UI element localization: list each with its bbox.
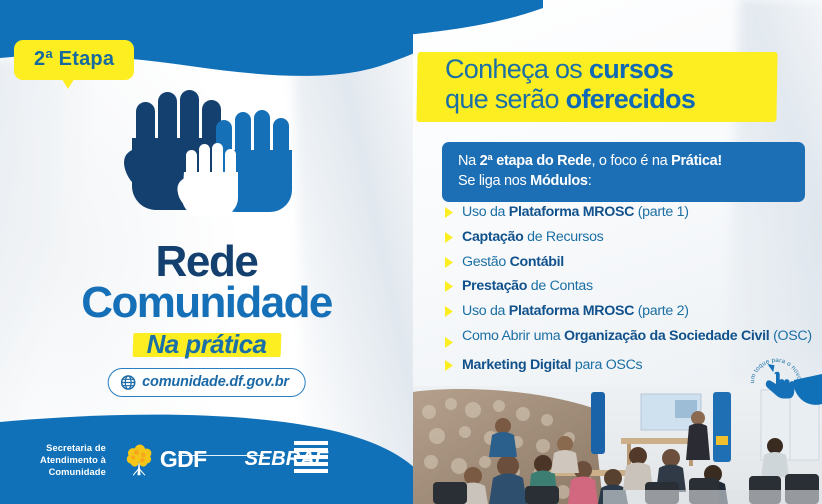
course-bold: Organização da Sociedade Civil — [564, 328, 769, 344]
website-pill[interactable]: comunidade.df.gov.br — [107, 368, 306, 397]
hands-logo-icon — [108, 78, 308, 248]
brand-logotype: Rede Comunidade Na prática — [0, 240, 413, 360]
footer-logos: Secretaria de Atendimento à Comunidade — [40, 442, 328, 478]
course-pre: Gestão — [462, 254, 510, 270]
classroom-photo — [413, 386, 822, 504]
secretaria-line-3: Comunidade — [40, 466, 106, 478]
course-post: (OSC) — [769, 328, 811, 344]
globe-icon — [120, 375, 135, 390]
info-line-2: Se liga nos Módulos: — [458, 172, 791, 192]
course-bold: Plataforma MROSC — [509, 204, 634, 220]
promotional-banner: 2ª Etapa — [0, 0, 822, 504]
chevron-right-icon — [444, 256, 455, 269]
course-pre: Como Abrir uma — [462, 328, 564, 344]
course-post: de Recursos — [523, 229, 603, 245]
chevron-right-icon — [444, 336, 455, 349]
info-1b: 2ª etapa do Rede — [480, 153, 592, 169]
info-1c: , o foco é na — [591, 153, 671, 169]
course-post: (parte 1) — [634, 204, 689, 220]
course-item[interactable]: Gestão Contábil — [444, 254, 814, 271]
chevron-right-icon — [444, 206, 455, 219]
gdf-tree-icon — [122, 443, 156, 477]
course-item[interactable]: Uso da Plataforma MROSC (parte 1) — [444, 204, 814, 221]
info-2b: Módulos — [530, 173, 588, 189]
course-bold: Marketing Digital — [462, 357, 571, 373]
course-item[interactable]: Como Abrir uma Organização da Sociedade … — [444, 328, 814, 349]
tagline-text: Na prática — [141, 329, 273, 359]
info-1d: Prática! — [671, 153, 722, 169]
course-bold: Prestação — [462, 278, 527, 294]
course-item[interactable]: Uso da Plataforma MROSC (parte 2) — [444, 303, 814, 320]
stage-badge: 2ª Etapa — [14, 40, 134, 80]
right-panel: Conheça os cursos que serão oferecidos N… — [413, 0, 822, 504]
course-item[interactable]: Captação de Recursos — [444, 229, 814, 246]
info-1a: Na — [458, 153, 480, 169]
info-line-1: Na 2ª etapa do Rede, o foco é na Prática… — [458, 152, 791, 172]
headline-line-2: que serão oferecidos — [445, 84, 695, 114]
left-panel: 2ª Etapa — [0, 0, 413, 504]
course-bold: Captação — [462, 229, 523, 245]
headline-line-2-bold: oferecidos — [566, 84, 696, 114]
info-2a: Se liga nos — [458, 173, 530, 189]
course-bold: Plataforma MROSC — [509, 303, 634, 319]
course-label: Como Abrir uma Organização da Sociedade … — [462, 328, 812, 345]
course-bold: Contábil — [510, 254, 564, 270]
headline-line-1: Conheça os cursos — [445, 54, 695, 84]
course-label: Uso da Plataforma MROSC (parte 2) — [462, 303, 689, 320]
tagline-wrapper: Na prática — [141, 329, 273, 360]
secretaria-label: Secretaria de Atendimento à Comunidade — [40, 442, 106, 478]
sebrae-bars-icon — [292, 439, 330, 479]
photo-illustration — [413, 386, 822, 504]
logo-line-rede: Rede — [0, 240, 413, 283]
secretaria-line-1: Secretaria de — [40, 442, 106, 454]
secretaria-line-2: Atendimento à — [40, 454, 106, 466]
chevron-right-icon — [444, 305, 455, 318]
info-box: Na 2ª etapa do Rede, o foco é na Prática… — [442, 142, 805, 202]
chevron-right-icon — [444, 231, 455, 244]
course-pre: Uso da — [462, 204, 509, 220]
gdf-logo: GDF — [122, 443, 207, 477]
course-post: (parte 2) — [634, 303, 689, 319]
headline-block: Conheça os cursos que serão oferecidos — [427, 42, 709, 124]
course-label: Captação de Recursos — [462, 229, 603, 246]
course-label: Uso da Plataforma MROSC (parte 1) — [462, 204, 689, 221]
course-label: Marketing Digital para OSCs — [462, 357, 642, 374]
headline-text: Conheça os cursos que serão oferecidos — [427, 42, 709, 124]
headline-line-2-plain: que serão — [445, 84, 566, 114]
website-url-text: comunidade.df.gov.br — [142, 374, 289, 390]
stage-badge-label: 2ª Etapa — [34, 48, 114, 70]
course-post: de Contas — [527, 278, 593, 294]
headline-line-1-bold: cursos — [589, 54, 673, 84]
info-2c: : — [588, 173, 592, 189]
headline-line-1-plain: Conheça os — [445, 54, 589, 84]
course-label: Prestação de Contas — [462, 278, 593, 295]
chevron-right-icon — [444, 280, 455, 293]
course-post: para OSCs — [571, 357, 642, 373]
course-pre: Uso da — [462, 303, 509, 319]
corner-blue-dot — [786, 374, 822, 410]
chevron-right-icon — [444, 359, 455, 372]
logo-line-comunidade: Comunidade — [0, 281, 413, 325]
course-item[interactable]: Prestação de Contas — [444, 278, 814, 295]
gdf-label: GDF — [160, 446, 207, 473]
sebrae-logo: SEBRAE — [245, 448, 328, 471]
course-label: Gestão Contábil — [462, 254, 564, 271]
